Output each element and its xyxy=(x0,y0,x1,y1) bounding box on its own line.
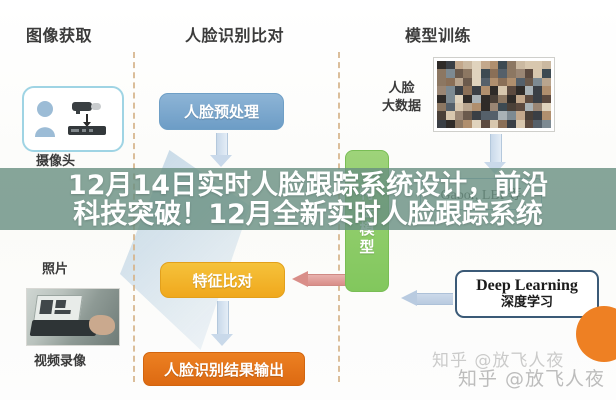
title-overlay-text: 12月14日实时人脸跟踪系统设计，前沿 科技突破！12月全新实时人脸跟踪系统 xyxy=(0,166,616,236)
face-thumbnail xyxy=(490,69,499,77)
video-caption: 视频录像 xyxy=(34,350,86,369)
face-thumbnail xyxy=(507,95,516,103)
face-thumbnail xyxy=(498,86,507,94)
face-thumbnail xyxy=(463,120,472,128)
arrow-deeplearning-to-model xyxy=(401,290,453,306)
face-thumbnail xyxy=(542,61,551,69)
face-thumbnail xyxy=(525,61,534,69)
face-thumbnail xyxy=(516,61,525,69)
arrow-feature-to-output xyxy=(211,301,233,347)
face-thumbnail xyxy=(542,69,551,77)
deep-learning-box: Deep Learning 深度学习 xyxy=(455,270,599,318)
face-thumbnail xyxy=(481,111,490,119)
face-thumbnail xyxy=(437,69,446,77)
face-thumbnail xyxy=(542,120,551,128)
face-thumbnail xyxy=(525,86,534,94)
face-thumbnail xyxy=(481,120,490,128)
face-thumbnail xyxy=(455,95,464,103)
watermark-secondary: 知乎 @放飞人夜 xyxy=(458,364,605,391)
face-thumbnail xyxy=(481,103,490,111)
face-thumbnail xyxy=(542,103,551,111)
face-thumbnail xyxy=(498,111,507,119)
face-thumbnail xyxy=(533,69,542,77)
face-thumbnail xyxy=(525,78,534,86)
face-thumbnail xyxy=(437,78,446,86)
hand-on-keyboard xyxy=(89,315,115,335)
face-thumbnail xyxy=(463,61,472,69)
title-line-2: 科技突破！12月全新实时人脸跟踪系统 xyxy=(73,201,543,230)
face-thumbnail-grid xyxy=(437,61,551,128)
face-thumbnail xyxy=(437,103,446,111)
face-thumbnail xyxy=(463,69,472,77)
deep-learning-chinese: 深度学习 xyxy=(501,296,553,311)
face-thumbnail xyxy=(498,69,507,77)
face-thumbnail xyxy=(507,86,516,94)
face-thumbnail xyxy=(437,95,446,103)
face-thumbnail xyxy=(498,95,507,103)
face-thumbnail xyxy=(498,78,507,86)
face-thumbnail xyxy=(455,61,464,69)
face-thumbnail xyxy=(463,103,472,111)
face-dataset-image xyxy=(433,57,555,132)
face-thumbnail xyxy=(446,111,455,119)
laptop-photo-thumbnail xyxy=(26,288,120,346)
section-header-model-training: 模型训练 xyxy=(405,22,471,46)
face-thumbnail xyxy=(481,95,490,103)
dvr-recorder-icon xyxy=(68,124,106,137)
face-thumbnail xyxy=(455,69,464,77)
face-thumbnail xyxy=(490,86,499,94)
face-thumbnail xyxy=(472,111,481,119)
face-thumbnail xyxy=(516,86,525,94)
face-thumbnail xyxy=(498,61,507,69)
face-thumbnail xyxy=(472,86,481,94)
face-thumbnail xyxy=(437,86,446,94)
face-thumbnail xyxy=(516,69,525,77)
face-thumbnail xyxy=(507,103,516,111)
face-thumbnail xyxy=(507,120,516,128)
section-header-image-capture: 图像获取 xyxy=(26,22,92,46)
face-thumbnail xyxy=(481,69,490,77)
face-thumbnail xyxy=(525,111,534,119)
photo-caption: 照片 xyxy=(42,258,68,277)
face-thumbnail xyxy=(516,111,525,119)
face-thumbnail xyxy=(525,120,534,128)
face-thumbnail xyxy=(490,78,499,86)
node-recognition-output: 人脸识别结果输出 xyxy=(143,352,305,386)
face-thumbnail xyxy=(446,78,455,86)
face-thumbnail xyxy=(525,103,534,111)
face-thumbnail xyxy=(507,69,516,77)
face-thumbnail xyxy=(472,120,481,128)
face-thumbnail xyxy=(490,61,499,69)
face-bigdata-label-line1: 人脸 xyxy=(389,81,415,96)
face-thumbnail xyxy=(490,111,499,119)
face-thumbnail xyxy=(446,86,455,94)
title-line-1: 12月14日实时人脸跟踪系统设计，前沿 xyxy=(68,172,548,201)
face-thumbnail xyxy=(498,120,507,128)
person-icon xyxy=(34,100,56,138)
face-thumbnail xyxy=(455,120,464,128)
face-thumbnail xyxy=(533,61,542,69)
face-thumbnail xyxy=(542,86,551,94)
face-thumbnail xyxy=(516,78,525,86)
face-thumbnail xyxy=(533,95,542,103)
face-thumbnail xyxy=(542,111,551,119)
face-thumbnail xyxy=(542,95,551,103)
face-thumbnail xyxy=(463,111,472,119)
face-thumbnail xyxy=(472,103,481,111)
face-thumbnail xyxy=(525,69,534,77)
face-thumbnail xyxy=(481,86,490,94)
diagram-canvas: 图像获取 人脸识别比对 模型训练 摄像头 照片 视频录像 xyxy=(0,0,616,400)
face-thumbnail xyxy=(490,95,499,103)
node-face-preprocessing: 人脸预处理 xyxy=(159,93,284,130)
face-thumbnail xyxy=(455,86,464,94)
face-thumbnail xyxy=(507,111,516,119)
face-thumbnail xyxy=(437,120,446,128)
face-thumbnail xyxy=(472,69,481,77)
face-thumbnail xyxy=(533,103,542,111)
face-thumbnail xyxy=(507,61,516,69)
face-thumbnail xyxy=(455,78,464,86)
face-bigdata-label-line2: 大数据 xyxy=(382,99,421,114)
face-thumbnail xyxy=(446,103,455,111)
face-thumbnail xyxy=(472,95,481,103)
deep-learning-english: Deep Learning xyxy=(476,277,578,295)
face-thumbnail xyxy=(516,95,525,103)
face-thumbnail xyxy=(481,61,490,69)
face-thumbnail xyxy=(472,78,481,86)
face-thumbnail xyxy=(490,103,499,111)
face-thumbnail xyxy=(525,95,534,103)
cctv-camera-icon xyxy=(70,98,104,114)
arrow-preprocessing-to-feature xyxy=(210,133,232,167)
face-thumbnail xyxy=(542,78,551,86)
face-thumbnail xyxy=(463,95,472,103)
face-thumbnail xyxy=(437,111,446,119)
face-thumbnail xyxy=(533,86,542,94)
face-bigdata-label: 人脸 大数据 xyxy=(382,80,421,115)
face-thumbnail xyxy=(516,103,525,111)
face-thumbnail xyxy=(455,111,464,119)
face-thumbnail xyxy=(481,78,490,86)
face-thumbnail xyxy=(533,111,542,119)
face-thumbnail xyxy=(446,120,455,128)
face-thumbnail xyxy=(446,95,455,103)
face-thumbnail xyxy=(455,103,464,111)
face-thumbnail xyxy=(437,61,446,69)
face-thumbnail xyxy=(463,86,472,94)
face-thumbnail xyxy=(507,78,516,86)
face-thumbnail xyxy=(516,120,525,128)
face-thumbnail xyxy=(490,120,499,128)
face-thumbnail xyxy=(533,78,542,86)
face-thumbnail xyxy=(463,78,472,86)
arrow-model-to-feature-matching xyxy=(292,271,346,287)
down-arrow-icon xyxy=(86,114,88,123)
camera-source-card xyxy=(22,86,124,152)
face-thumbnail xyxy=(498,103,507,111)
face-thumbnail xyxy=(446,61,455,69)
laptop-screen xyxy=(33,295,83,323)
face-thumbnail xyxy=(446,69,455,77)
face-thumbnail xyxy=(533,120,542,128)
section-header-face-recognition: 人脸识别比对 xyxy=(185,22,284,46)
face-thumbnail xyxy=(472,61,481,69)
node-feature-matching: 特征比对 xyxy=(160,262,285,298)
